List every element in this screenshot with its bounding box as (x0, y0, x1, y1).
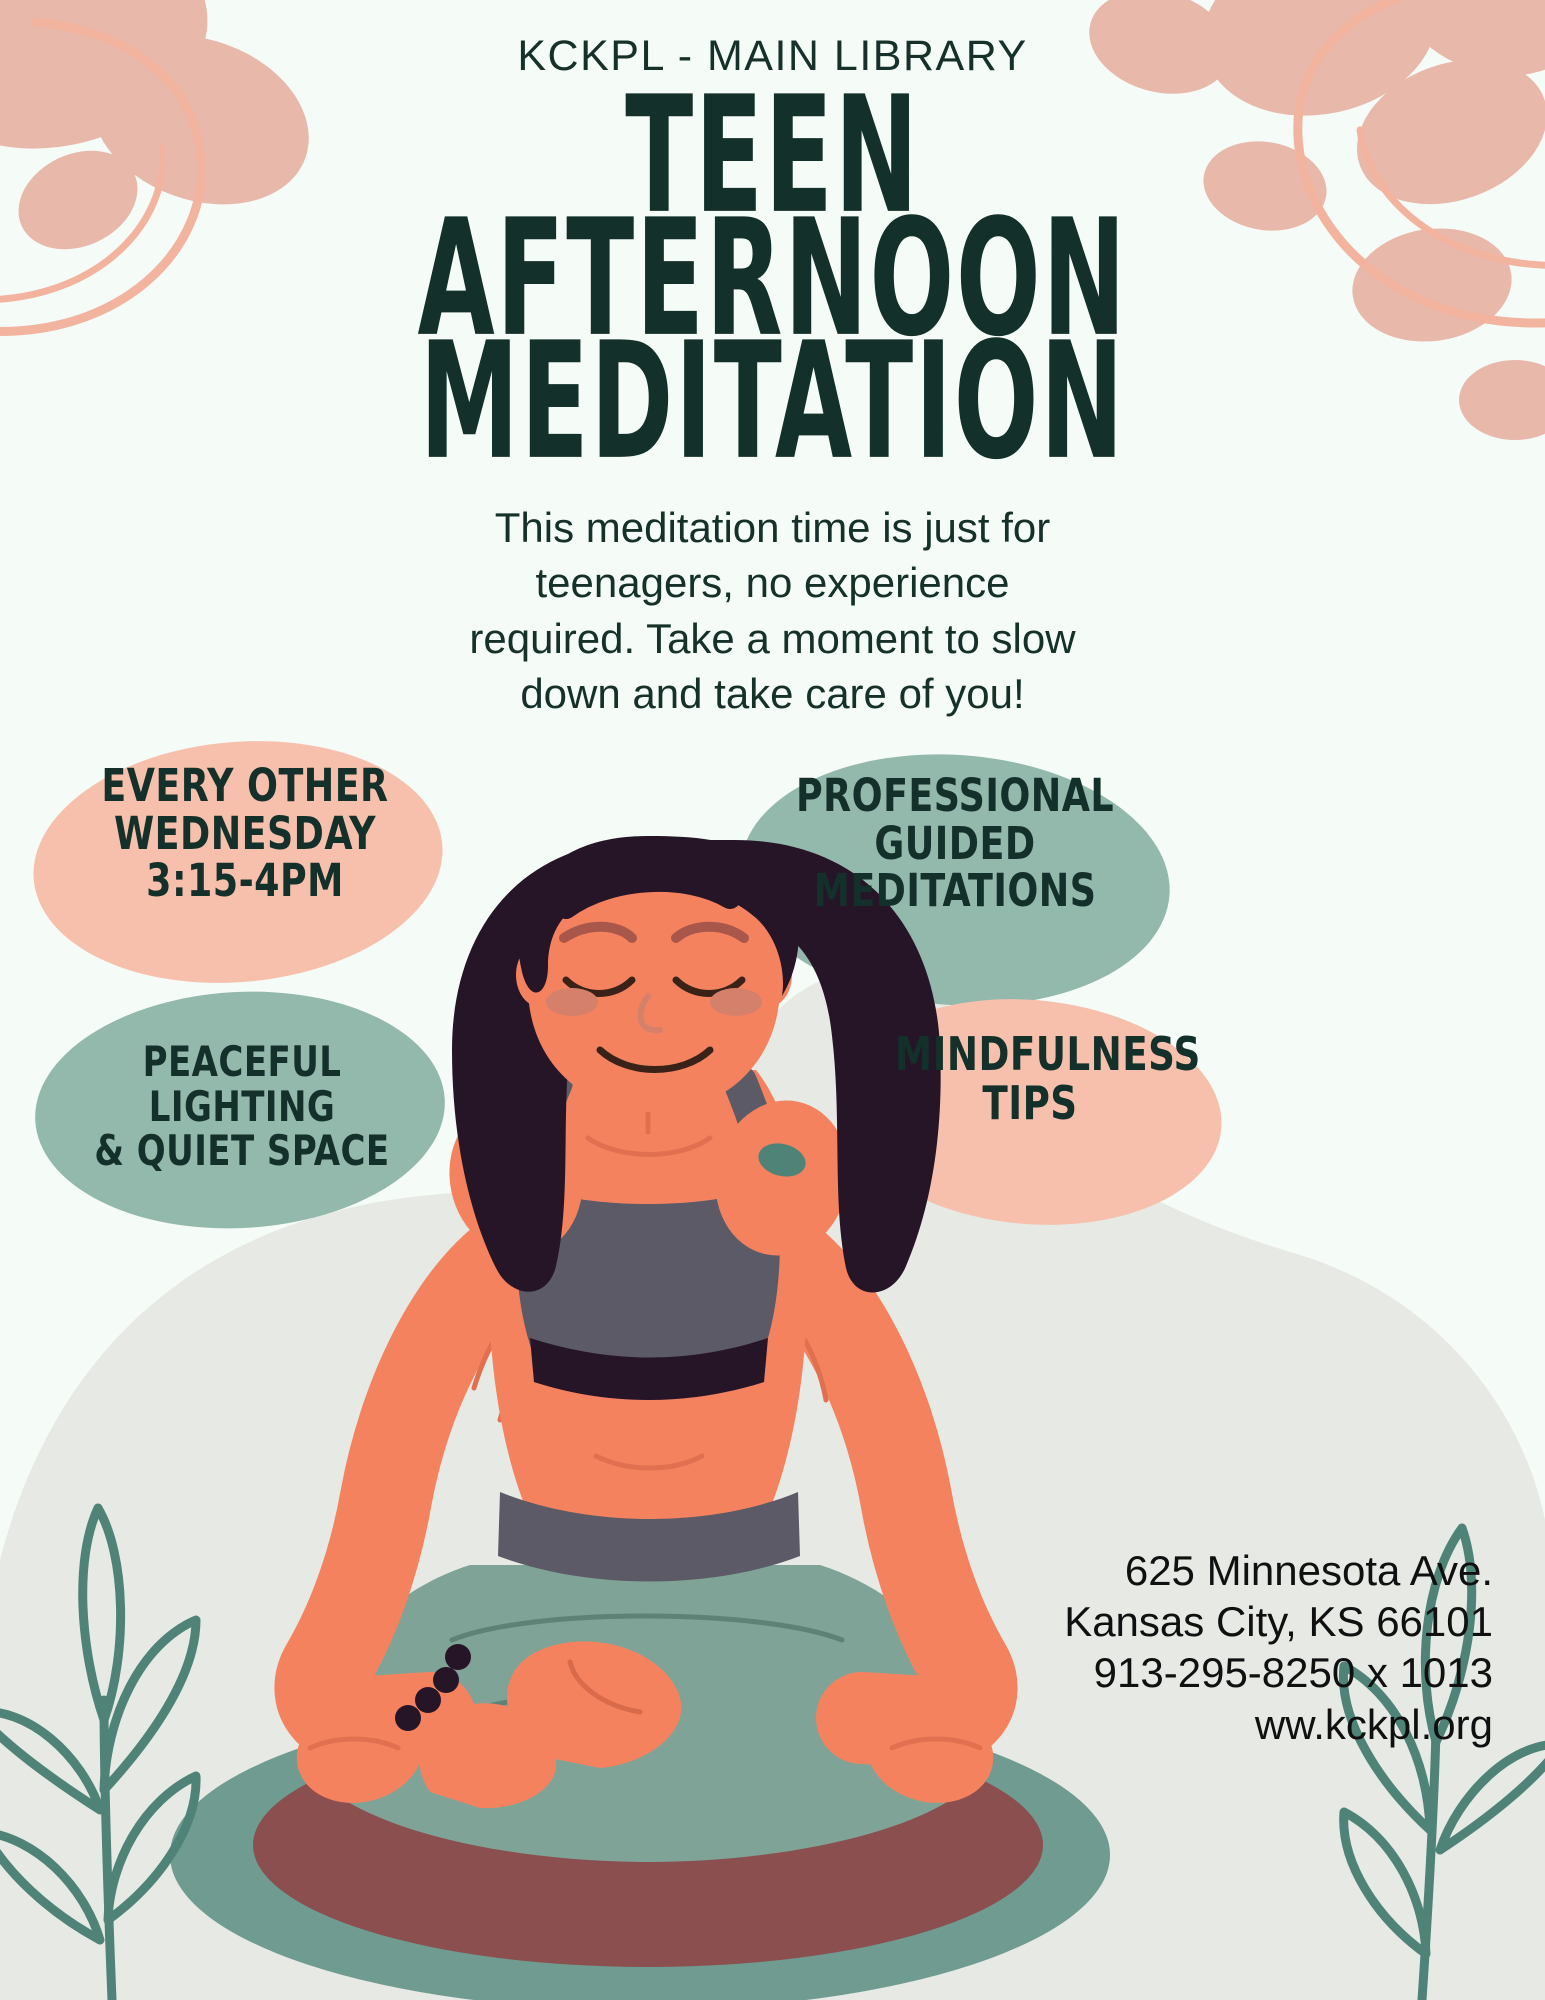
bubble-mindful: MINDFULNESS TIPS (880, 1030, 1180, 1128)
flyer-poster: KCKPL - MAIN LIBRARY TEEN AFTERNOON MEDI… (0, 0, 1545, 2000)
intro-line-2: teenagers, no experience (0, 555, 1545, 610)
bubble-peaceful: PEACEFUL LIGHTING & QUIET SPACE (62, 1040, 422, 1174)
bubble-guided: PROFESSIONAL GUIDED MEDITATIONS (760, 772, 1150, 915)
contact-city: Kansas City, KS 66101 (1064, 1596, 1493, 1647)
bubble-guided-line-2: GUIDED (780, 820, 1131, 868)
contact-phone: 913-295-8250 x 1013 (1064, 1647, 1493, 1698)
intro-line-3: required. Take a moment to slow (0, 611, 1545, 666)
bubble-guided-line-1: PROFESSIONAL (780, 772, 1131, 820)
bubble-schedule-line-1: EVERY OTHER (79, 762, 412, 810)
contact-website: ww.kckpl.org (1064, 1699, 1493, 1750)
contact-block: 625 Minnesota Ave. Kansas City, KS 66101… (1064, 1545, 1493, 1750)
page-title: TEEN AFTERNOON MEDITATION (0, 95, 1545, 463)
bubble-mindful-line-2: TIPS (895, 1079, 1165, 1128)
bubble-schedule: EVERY OTHER WEDNESDAY 3:15-4PM (60, 762, 430, 905)
bubble-mindful-line-1: MINDFULNESS (895, 1030, 1165, 1079)
bubble-peaceful-line-1: PEACEFUL LIGHTING (80, 1040, 404, 1129)
bubble-schedule-line-2: WEDNESDAY (79, 810, 412, 858)
bubble-peaceful-line-2: & QUIET SPACE (80, 1129, 404, 1174)
plant-left (0, 1508, 196, 2000)
title-line-3: MEDITATION (124, 327, 1422, 477)
bubble-schedule-line-3: 3:15-4PM (79, 857, 412, 905)
intro-paragraph: This meditation time is just for teenage… (0, 500, 1545, 722)
contact-street: 625 Minnesota Ave. (1064, 1545, 1493, 1596)
bubble-guided-line-3: MEDITATIONS (780, 867, 1131, 915)
intro-line-1: This meditation time is just for (0, 500, 1545, 555)
intro-line-4: down and take care of you! (0, 666, 1545, 721)
